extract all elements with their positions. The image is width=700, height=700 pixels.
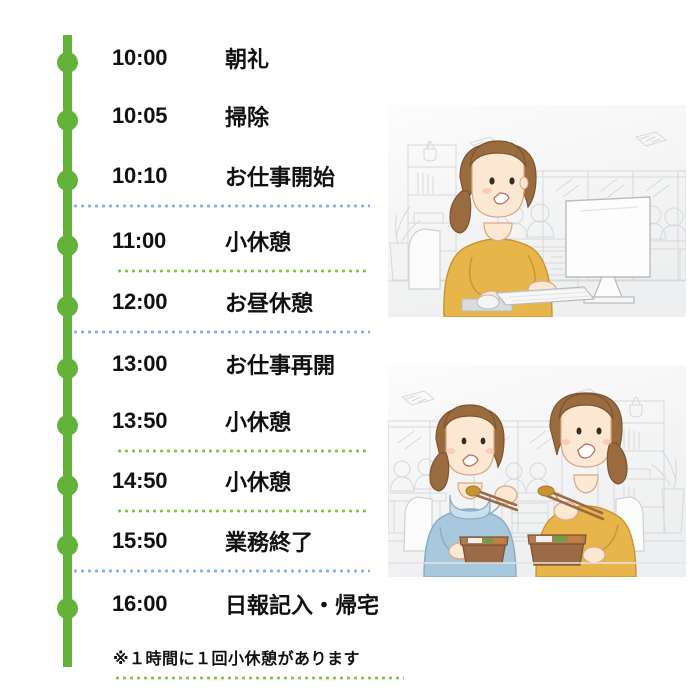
divider-blue: [72, 569, 370, 573]
schedule-label: 業務終了: [225, 525, 313, 557]
schedule-time: 10:05: [112, 103, 225, 129]
schedule-row: 14:50小休憩: [112, 464, 402, 498]
timeline-dot-1100: [57, 235, 78, 256]
schedule-time: 10:10: [112, 163, 225, 189]
schedule-label: 朝礼: [225, 42, 269, 74]
illustration-two-women-eating-bento: [388, 365, 686, 577]
schedule-row: 10:05掃除: [112, 99, 402, 133]
divider-blue: [72, 330, 370, 334]
illustration-woman-at-computer: [388, 105, 686, 317]
divider-blue: [72, 204, 370, 208]
timeline-dot-1200: [57, 296, 78, 317]
divider-green: [116, 509, 370, 513]
schedule-time: 13:50: [112, 408, 225, 434]
timeline-dot-1450: [57, 475, 78, 496]
schedule-label: 日報記入・帰宅: [225, 588, 379, 620]
timeline-dot-1000: [57, 52, 78, 73]
schedule-label: 小休憩: [225, 465, 291, 497]
schedule-label: お仕事開始: [225, 160, 335, 192]
timeline-dot-1005: [57, 110, 78, 131]
schedule-label: 小休憩: [225, 405, 291, 437]
divider-green: [116, 269, 370, 273]
timeline-dot-1010: [57, 170, 78, 191]
schedule-row: 13:50小休憩: [112, 404, 402, 438]
footnote-divider: [114, 676, 404, 680]
schedule-row: 10:10お仕事開始: [112, 159, 402, 193]
schedule-row: 12:00お昼休憩: [112, 285, 402, 319]
schedule-label: お仕事再開: [225, 348, 335, 380]
schedule-time: 10:00: [112, 45, 225, 71]
footnote-text: ※１時間に１回小休憩があります: [113, 645, 360, 669]
schedule-label: 掃除: [225, 100, 269, 132]
timeline-dot-1600: [57, 598, 78, 619]
schedule-time: 11:00: [112, 228, 225, 254]
schedule-row: 16:00日報記入・帰宅: [112, 587, 402, 621]
schedule-row: 13:00お仕事再開: [112, 347, 402, 381]
schedule-time: 15:50: [112, 528, 225, 554]
schedule-time: 14:50: [112, 468, 225, 494]
schedule-time: 16:00: [112, 591, 225, 617]
timeline-dot-1550: [57, 535, 78, 556]
schedule-label: お昼休憩: [225, 286, 313, 318]
schedule-row: 11:00小休憩: [112, 224, 402, 258]
schedule-label: 小休憩: [225, 225, 291, 257]
schedule-time: 13:00: [112, 351, 225, 377]
schedule-time: 12:00: [112, 289, 225, 315]
divider-green: [116, 449, 370, 453]
schedule-row: 15:50業務終了: [112, 524, 402, 558]
timeline-dot-1350: [57, 415, 78, 436]
schedule-row: 10:00朝礼: [112, 41, 402, 75]
timeline-dot-1300: [57, 358, 78, 379]
